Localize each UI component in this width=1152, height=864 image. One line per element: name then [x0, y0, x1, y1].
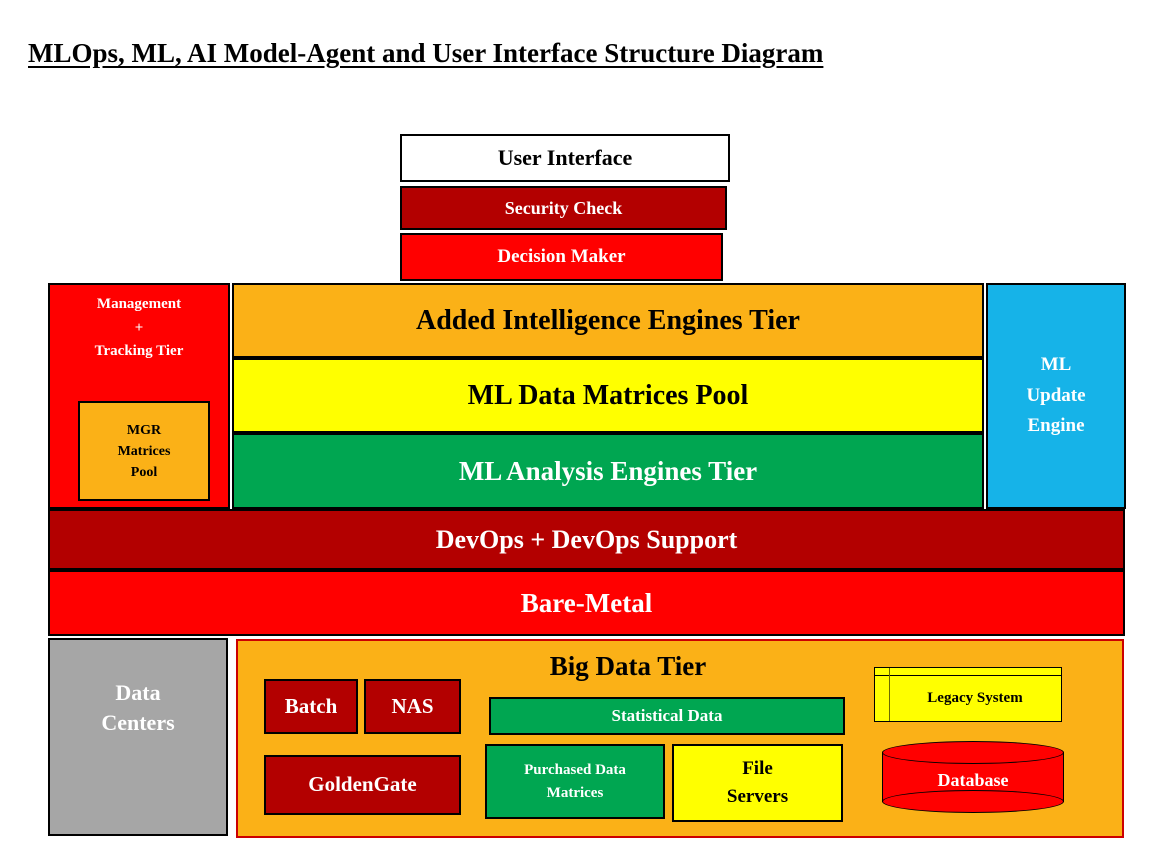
user-interface-block: User Interface	[400, 134, 730, 182]
statistical-data-block: Statistical Data	[489, 697, 845, 735]
database-cylinder: Database	[882, 741, 1064, 813]
devops-support-band: DevOps + DevOps Support	[48, 509, 1125, 570]
management-tracking-tier-label: Management+Tracking Tier	[50, 293, 228, 364]
bare-metal-band: Bare-Metal	[48, 570, 1125, 636]
big-data-tier-title: Big Data Tier	[458, 651, 798, 682]
purchased-data-matrices-block: Purchased DataMatrices	[485, 744, 665, 819]
ml-update-engine-block: MLUpdateEngine	[986, 283, 1126, 509]
page-title: MLOps, ML, AI Model-Agent and User Inter…	[28, 38, 823, 69]
file-servers-block: FileServers	[672, 744, 843, 822]
mgr-matrices-pool-block: MGRMatricesPool	[78, 401, 210, 501]
database-label: Database	[882, 741, 1064, 813]
internal-storage-horizontal-rule	[875, 675, 1061, 676]
diagram-canvas: MLOps, ML, AI Model-Agent and User Inter…	[0, 0, 1152, 864]
security-check-block: Security Check	[400, 186, 727, 230]
batch-block: Batch	[264, 679, 358, 734]
added-intelligence-engines-tier-block: Added Intelligence Engines Tier	[232, 283, 984, 358]
internal-storage-vertical-rule	[889, 668, 890, 721]
legacy-system-block: Legacy System	[874, 667, 1062, 722]
ml-data-matrices-pool-block: ML Data Matrices Pool	[232, 358, 984, 433]
decision-maker-block: Decision Maker	[400, 233, 723, 281]
goldengate-block: GoldenGate	[264, 755, 461, 815]
data-centers-block: DataCenters	[48, 638, 228, 836]
ml-analysis-engines-tier-block: ML Analysis Engines Tier	[232, 433, 984, 509]
nas-block: NAS	[364, 679, 461, 734]
legacy-system-label: Legacy System	[927, 690, 1022, 707]
